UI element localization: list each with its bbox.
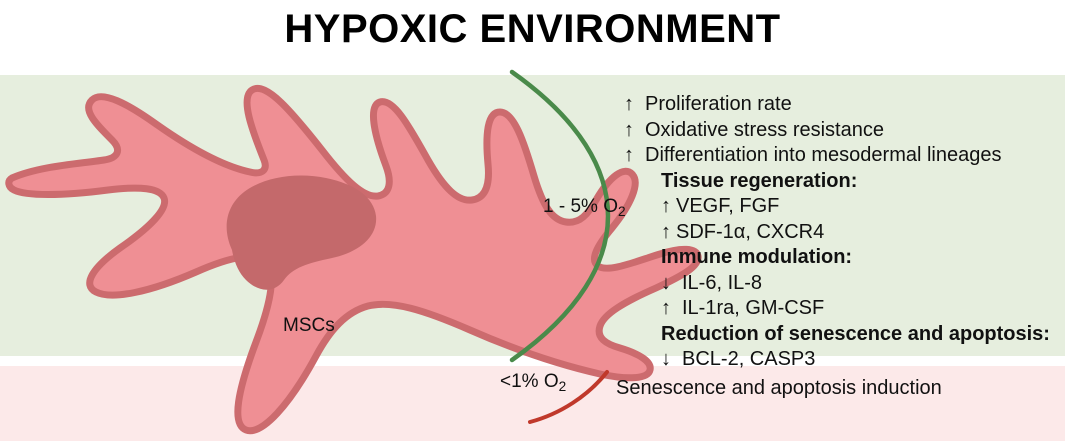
benefit-row-label: Oxidative stress resistance	[645, 119, 884, 141]
benefit-row: Tissue regeneration:	[624, 169, 1062, 195]
benefit-row: ↑Differentiation into mesodermal lineage…	[624, 143, 1062, 169]
benefit-row: Inmune modulation:	[624, 245, 1062, 271]
benefit-row-label: Differentiation into mesodermal lineages	[645, 144, 1002, 166]
arrow-up-icon: ↑	[624, 118, 639, 144]
normoxia-oxygen-label: 1 - 5% O2	[543, 196, 626, 219]
benefit-row: Reduction of senescence and apoptosis:	[624, 322, 1062, 348]
benefit-row-label: SDF-1α, CXCR4	[676, 221, 824, 243]
anoxia-outcome-text: Senescence and apoptosis induction	[616, 377, 942, 400]
anoxia-oxygen-subscript: 2	[559, 379, 567, 394]
benefit-row-label: VEGF, FGF	[676, 195, 779, 217]
arrow-up-icon: ↑	[661, 194, 676, 220]
arrow-up-icon: ↑	[661, 220, 676, 246]
msc-label: MSCs	[283, 315, 335, 337]
benefit-row-label: IL-6, IL-8	[682, 272, 762, 294]
anoxia-oxygen-label: <1% O2	[500, 371, 566, 394]
benefit-row-label: Tissue regeneration:	[661, 170, 857, 192]
arrow-up-icon: ↑	[624, 143, 639, 169]
anoxia-oxygen-value: <1% O	[500, 371, 559, 392]
benefit-row-label: Reduction of senescence and apoptosis:	[661, 323, 1050, 345]
benefit-row-label: Proliferation rate	[645, 93, 792, 115]
benefit-row: ↓IL-6, IL-8	[624, 271, 1062, 297]
benefit-row: ↑VEGF, FGF	[624, 194, 1062, 220]
arrow-up-icon: ↑	[661, 296, 676, 322]
benefit-row: ↓BCL-2, CASP3	[624, 347, 1062, 373]
benefit-row: ↑IL-1ra, GM-CSF	[624, 296, 1062, 322]
figure-root: HYPOXIC ENVIRONMENT MSCs 1 - 5% O2 <1% O…	[0, 0, 1065, 441]
benefit-row: ↑Proliferation rate	[624, 92, 1062, 118]
arrow-up-icon: ↑	[624, 92, 639, 118]
benefit-row: ↑SDF-1α, CXCR4	[624, 220, 1062, 246]
benefit-row: ↑Oxidative stress resistance	[624, 118, 1062, 144]
hypoxia-benefits-list: ↑Proliferation rate↑Oxidative stress res…	[624, 92, 1062, 373]
benefit-row-label: IL-1ra, GM-CSF	[682, 297, 824, 319]
arrow-down-icon: ↓	[661, 347, 676, 373]
arrow-down-icon: ↓	[661, 271, 676, 297]
benefit-row-label: Inmune modulation:	[661, 246, 852, 268]
normoxia-oxygen-value: 1 - 5% O	[543, 196, 618, 217]
benefit-row-label: BCL-2, CASP3	[682, 348, 815, 370]
